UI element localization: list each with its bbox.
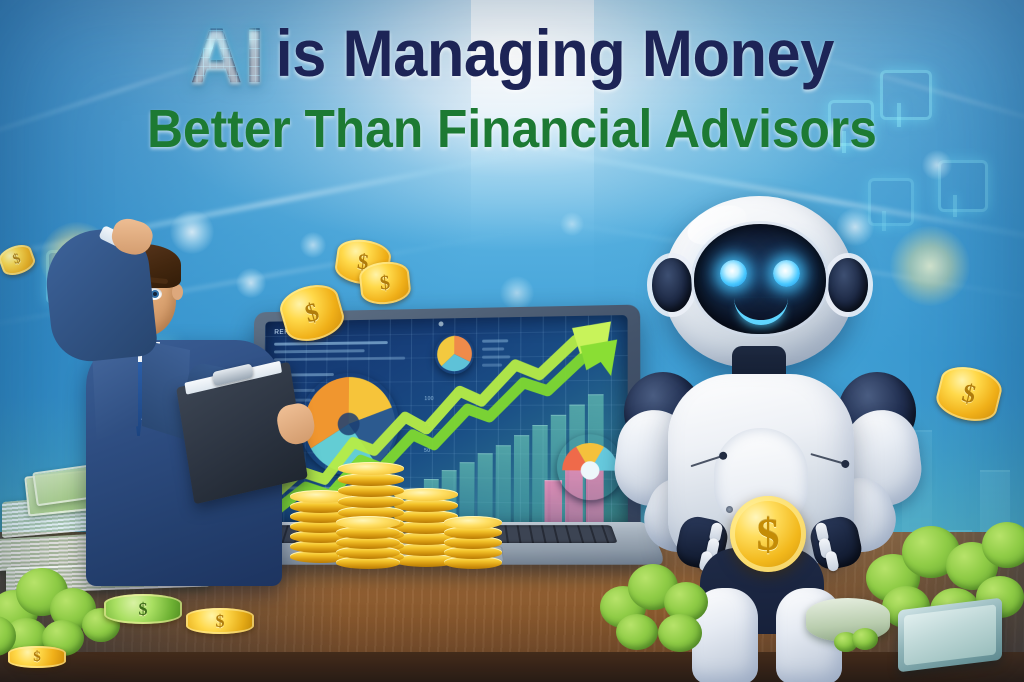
- robot-eye-left: [720, 260, 747, 287]
- desk-coin-green: $: [104, 594, 182, 624]
- headline-line-2: Better Than Financial Advisors: [41, 102, 983, 156]
- coin-stack-5: [444, 506, 502, 572]
- poster-root: REPORT TOTAL 100 75 50: [0, 0, 1024, 682]
- robot-ear-module-right: [828, 258, 868, 312]
- title-block: AIis Managing Money Better Than Financia…: [0, 16, 1024, 156]
- desk-tray: [898, 598, 1002, 673]
- robot-eye-right: [773, 260, 800, 287]
- robot-smile-icon: [734, 298, 788, 325]
- robot-ear-module-left: [652, 258, 692, 312]
- robot-face-visor: [694, 224, 826, 334]
- robot-finger: [825, 550, 840, 572]
- tray-inner: [904, 604, 996, 665]
- robot-dollar-coin: $: [730, 496, 806, 572]
- circuit-motif-icon: [938, 160, 988, 212]
- dollar-sign-icon: $: [757, 508, 780, 561]
- financial-advisor: [34, 222, 314, 582]
- desk-coin: $: [8, 646, 66, 668]
- headline-line-1: AIis Managing Money: [36, 16, 988, 94]
- foliage-center: [600, 560, 740, 650]
- desk-coin: $: [186, 608, 254, 634]
- foliage-small-sprig: [834, 628, 884, 654]
- headline-rest: is Managing Money: [276, 16, 834, 90]
- ai-wordmark: AI: [190, 16, 266, 94]
- robot-bolt: [726, 506, 733, 513]
- coin-stack-3: [336, 510, 400, 572]
